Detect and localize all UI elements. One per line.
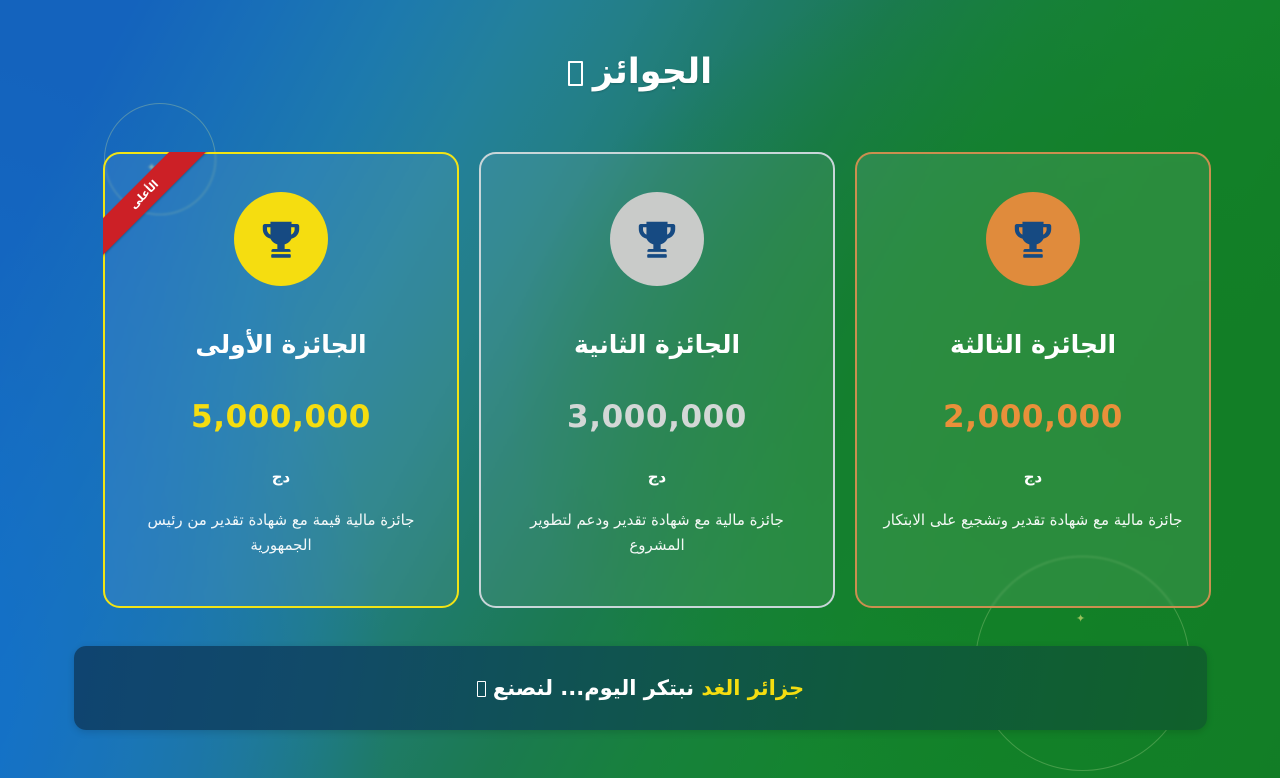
prize-currency-second: دج [648, 468, 667, 486]
trophy-emoji-missing-glyph-icon [568, 61, 583, 86]
page-title: الجوائز [0, 52, 1280, 92]
slogan-text: جزائر الغد نبتكر اليوم... لنصنع [477, 676, 804, 700]
prize-description-first: جائزة مالية قيمة مع شهادة تقدير من رئيس … [131, 508, 431, 558]
prize-amount-second: 3,000,000 [567, 399, 747, 435]
prize-card-second[interactable]: الجائزة الثانية 3,000,000 دج جائزة مالية… [479, 152, 835, 608]
slogan-main: نبتكر اليوم... لنصنع [493, 676, 694, 700]
slogan-accent: جزائر الغد [701, 676, 804, 700]
prize-currency-first: دج [272, 468, 291, 486]
prize-medal-first [234, 192, 328, 286]
page-title-text: الجوائز [593, 52, 712, 92]
slogan-banner: جزائر الغد نبتكر اليوم... لنصنع [74, 646, 1207, 730]
prize-description-second: جائزة مالية مع شهادة تقدير ودعم لتطوير ا… [507, 508, 807, 558]
prize-title-second: الجائزة الثانية [574, 330, 740, 360]
trophy-icon [1010, 216, 1056, 262]
prize-amount-first: 5,000,000 [191, 399, 371, 435]
prize-currency-third: دج [1024, 468, 1043, 486]
featured-ribbon: الأعلى [103, 152, 227, 276]
prize-medal-second [610, 192, 704, 286]
prize-title-first: الجائزة الأولى [195, 330, 366, 360]
trophy-icon [258, 216, 304, 262]
prize-medal-third [986, 192, 1080, 286]
featured-ribbon-label: الأعلى [103, 152, 216, 266]
prize-card-third[interactable]: الجائزة الثالثة 2,000,000 دج جائزة مالية… [855, 152, 1211, 608]
prize-card-first[interactable]: الأعلى الجائزة الأولى 5,000,000 دج جائزة… [103, 152, 459, 608]
prize-description-third: جائزة مالية مع شهادة تقدير وتشجيع على ال… [883, 508, 1183, 533]
sparkle-icon-bottom-right: ✦ [1076, 613, 1085, 624]
trophy-icon [634, 216, 680, 262]
prize-title-third: الجائزة الثالثة [950, 330, 1116, 360]
prize-cards-row: الجائزة الثالثة 2,000,000 دج جائزة مالية… [72, 152, 1211, 608]
slide-background: ✦ ✦ الجوائز الجائزة الثالثة 2,000,000 دج… [0, 0, 1280, 778]
rocket-emoji-missing-glyph-icon [477, 681, 486, 697]
prize-amount-third: 2,000,000 [943, 399, 1123, 435]
